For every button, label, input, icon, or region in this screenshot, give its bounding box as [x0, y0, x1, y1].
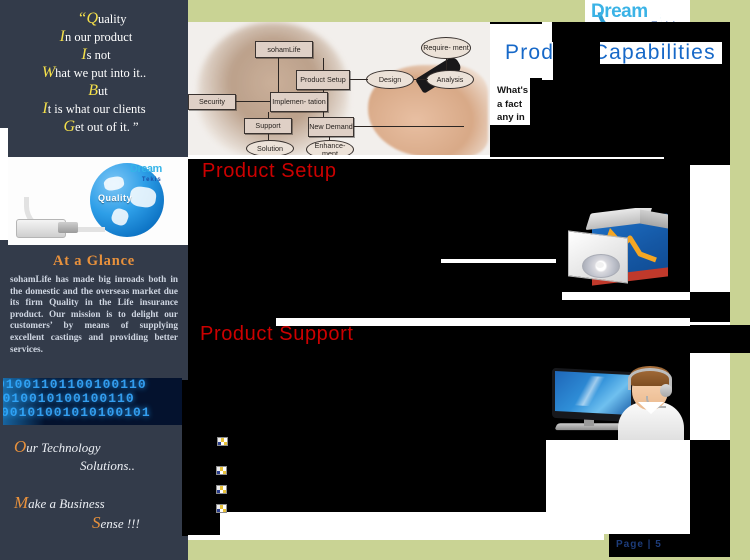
diagram-arrow — [323, 90, 324, 92]
quote-rest-1: n our product — [65, 30, 132, 44]
diagram-node-label: sohamLife — [267, 46, 300, 54]
diagram-node-security: Security — [188, 94, 236, 110]
box-image-baseline — [562, 292, 690, 300]
sidebar-brand-logo: Dream Tekis — [130, 159, 162, 183]
tagline-line-4: Sense !!! — [92, 513, 140, 533]
diagram-arrow — [268, 134, 269, 140]
support-agent-image-front — [546, 364, 686, 446]
tagline-text-2: Solutions.. — [80, 458, 135, 473]
content-redaction-block — [552, 22, 730, 42]
cd-hole-icon — [596, 262, 604, 268]
diagram-node-label: Solution — [257, 145, 283, 153]
setup-underline — [441, 259, 556, 263]
diagram-node-design: Design — [366, 70, 414, 89]
quote-rest-6: et out of it. ” — [75, 120, 139, 134]
product-flow-diagram-image: sohamLife Product Setup Security Impleme… — [188, 22, 490, 157]
tagline-line-2: Solutions.. — [80, 458, 135, 474]
at-a-glance-title: At a Glance — [0, 253, 188, 270]
binary-glow-overlay — [3, 378, 45, 425]
tagline-cap-3: M — [14, 493, 28, 512]
tagline-text-1: ur Technology — [26, 440, 100, 455]
diagram-arrow — [323, 112, 324, 117]
binary-code-image: 01001101100100110 10010010100100110 0010… — [3, 378, 182, 425]
diagram-node-implementation: Implemen- tation — [270, 92, 328, 112]
list-bullet-icon — [216, 504, 227, 513]
quote-rest-5: t is what our clients — [48, 102, 146, 116]
quote-cap-6: G — [63, 118, 75, 135]
diagram-node-label: New Demand — [309, 123, 353, 131]
content-redaction-block — [722, 42, 730, 64]
tagline-line-3: Make a Business — [14, 493, 105, 513]
tagline-cap-4: S — [92, 513, 101, 532]
support-agent-layer — [546, 364, 686, 446]
content-redaction-block — [690, 292, 730, 322]
diagram-arrow — [236, 101, 270, 102]
diagram-node-requirement: Require- ment — [421, 37, 471, 59]
usb-tip-icon — [58, 222, 78, 233]
diagram-arrow — [446, 59, 447, 70]
diagram-node-label: Security — [199, 98, 225, 106]
quote-cap-0: Q — [86, 10, 98, 27]
content-redaction-block — [276, 310, 690, 318]
tagline-cap-1: O — [14, 437, 26, 456]
content-redaction-block — [690, 155, 730, 165]
quote-rest-3: hat we put into it.. — [55, 66, 146, 80]
tagline-text-3: ake a Business — [28, 496, 105, 511]
sidebar-notch — [0, 128, 8, 240]
list-bullet-icon — [216, 466, 227, 475]
support-whitespace — [546, 450, 690, 512]
support-image-baseline — [546, 440, 690, 450]
quote-rest-0: uality — [98, 12, 126, 26]
quote-rest-4: ut — [98, 84, 108, 98]
diagram-node-label: Design — [379, 76, 401, 84]
software-box-image-front — [566, 208, 684, 292]
quality-globe-image: Quality Dream Tekis — [8, 157, 188, 245]
diagram-arrow — [414, 79, 428, 80]
tagline-line-1: Our Technology — [14, 437, 101, 457]
diagram-node-label: Require- ment — [423, 44, 469, 52]
section-heading-product-setup: Product Setup — [202, 160, 337, 183]
diagram-node-new-demand: New Demand — [308, 117, 354, 137]
logo-main-text: Dream — [591, 1, 648, 23]
diagram-arrow — [354, 126, 464, 127]
quote-rest-2: s not — [87, 48, 111, 62]
diagram-arrow — [350, 79, 368, 80]
content-redaction-block — [690, 440, 730, 536]
list-bullet-icon — [216, 485, 227, 494]
content-redaction-block — [490, 22, 542, 24]
diagram-node-label: Implemen- tation — [272, 98, 326, 106]
monitor-glare-icon — [562, 375, 616, 408]
software-box-layer — [566, 208, 684, 292]
at-a-glance-body: sohamLife has made big inroads both in t… — [10, 274, 178, 355]
diagram-arrow — [268, 112, 269, 118]
diagram-arrow — [329, 137, 330, 140]
diagram-node-sohamlife: sohamLife — [255, 41, 313, 58]
left-sidebar: “Quality In our product Is not What we p… — [0, 0, 188, 560]
quote-cap-4: B — [88, 82, 98, 99]
page-title: Product Capabilities — [505, 41, 716, 65]
page-canvas: “Quality In our product Is not What we p… — [0, 0, 750, 560]
page-number-label: Page | 5 — [616, 539, 662, 550]
diagram-node-label: Analysis — [437, 76, 464, 84]
tagline-text-4: ense !!! — [101, 516, 140, 531]
diagram-node-product-setup: Product Setup — [296, 70, 350, 90]
content-redaction-block — [182, 380, 188, 536]
diagram-arrow — [278, 58, 279, 92]
sidebar-brand-sub: Tekis — [130, 177, 162, 183]
diagram-arrow — [323, 58, 324, 70]
quote-cap-3: W — [42, 64, 55, 81]
section-heading-product-support: Product Support — [200, 323, 354, 346]
diagram-node-support: Support — [244, 118, 292, 134]
diagram-node-label: Support — [255, 122, 280, 130]
content-redaction-block — [553, 64, 730, 80]
quality-quote: “Quality In our product Is not What we p… — [0, 6, 188, 136]
footer-accent — [604, 534, 609, 557]
content-redaction-block — [553, 42, 600, 64]
bullets-baseline — [220, 512, 690, 536]
page-border-right — [730, 0, 750, 560]
list-bullet-icon — [217, 437, 228, 446]
diagram-node-analysis: Analysis — [426, 70, 474, 89]
sidebar-brand-main: Dream — [130, 163, 162, 175]
diagram-node-label: Product Setup — [300, 76, 346, 84]
